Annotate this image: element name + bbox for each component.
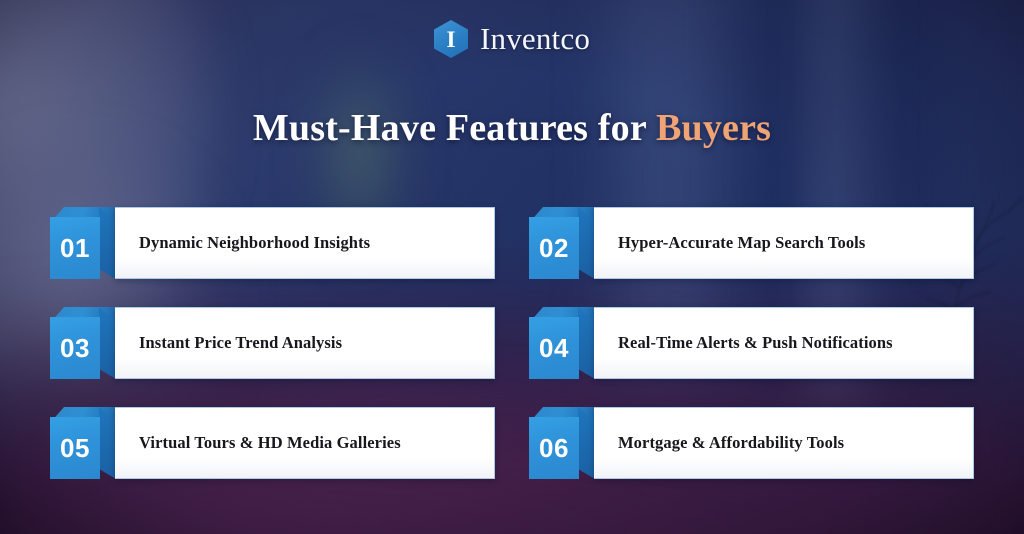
feature-label: Real-Time Alerts & Push Notifications	[594, 333, 907, 354]
logo-letter: I	[446, 28, 455, 51]
feature-card[interactable]: 06 Mortgage & Affordability Tools	[529, 407, 974, 479]
badge-front-face: 06	[529, 417, 579, 479]
feature-number: 04	[539, 335, 569, 361]
feature-card[interactable]: 04 Real-Time Alerts & Push Notifications	[529, 307, 974, 379]
feature-number: 06	[539, 435, 569, 461]
feature-number-badge: 06	[529, 417, 595, 479]
feature-number: 05	[60, 435, 90, 461]
feature-number-badge: 03	[50, 317, 116, 379]
feature-number-badge: 01	[50, 217, 116, 279]
feature-label-plate: Hyper-Accurate Map Search Tools	[594, 207, 974, 279]
feature-card[interactable]: 05 Virtual Tours & HD Media Galleries	[50, 407, 495, 479]
feature-label: Virtual Tours & HD Media Galleries	[115, 433, 415, 454]
badge-front-face: 03	[50, 317, 100, 379]
feature-card[interactable]: 02 Hyper-Accurate Map Search Tools	[529, 207, 974, 279]
feature-label: Dynamic Neighborhood Insights	[115, 233, 384, 254]
badge-front-face: 02	[529, 217, 579, 279]
feature-number: 01	[60, 235, 90, 261]
page-title: Must-Have Features for Buyers	[0, 106, 1024, 150]
page-title-lead: Must-Have Features for	[253, 107, 656, 149]
feature-label: Hyper-Accurate Map Search Tools	[594, 233, 879, 254]
feature-number: 02	[539, 235, 569, 261]
brand-logo: I Inventco	[0, 20, 1024, 58]
feature-label-plate: Dynamic Neighborhood Insights	[115, 207, 495, 279]
slide-canvas: I Inventco Must-Have Features for Buyers…	[0, 0, 1024, 534]
feature-label-plate: Instant Price Trend Analysis	[115, 307, 495, 379]
feature-label-plate: Mortgage & Affordability Tools	[594, 407, 974, 479]
feature-label: Mortgage & Affordability Tools	[594, 433, 858, 454]
feature-label-plate: Virtual Tours & HD Media Galleries	[115, 407, 495, 479]
feature-number-badge: 04	[529, 317, 595, 379]
badge-front-face: 05	[50, 417, 100, 479]
feature-number-badge: 02	[529, 217, 595, 279]
hexagon-logo-icon: I	[434, 20, 468, 58]
brand-name: Inventco	[480, 21, 590, 57]
feature-grid: 01 Dynamic Neighborhood Insights 02 Hype…	[50, 207, 974, 479]
badge-front-face: 01	[50, 217, 100, 279]
feature-card[interactable]: 03 Instant Price Trend Analysis	[50, 307, 495, 379]
feature-number-badge: 05	[50, 417, 116, 479]
feature-label-plate: Real-Time Alerts & Push Notifications	[594, 307, 974, 379]
feature-card[interactable]: 01 Dynamic Neighborhood Insights	[50, 207, 495, 279]
page-title-accent: Buyers	[656, 107, 771, 149]
feature-number: 03	[60, 335, 90, 361]
feature-label: Instant Price Trend Analysis	[115, 333, 356, 354]
badge-front-face: 04	[529, 317, 579, 379]
